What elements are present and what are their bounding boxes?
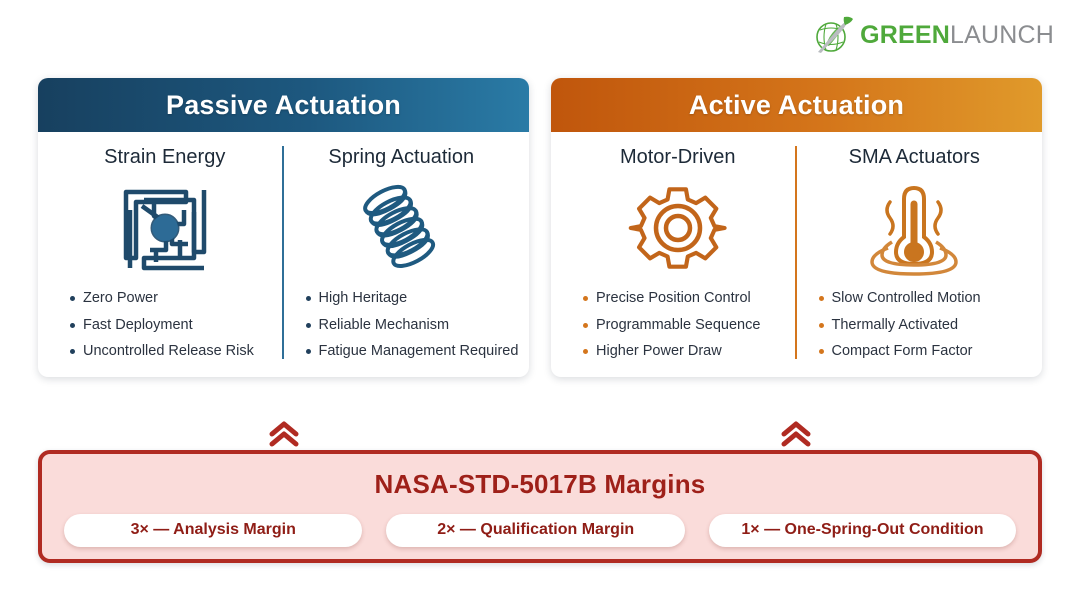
list-item: Programmable Sequence — [583, 318, 760, 333]
list-item: Higher Power Draw — [583, 344, 760, 359]
column-strain-energy: Strain Energy — [48, 146, 284, 359]
list-item: Fatigue Management Required — [306, 344, 519, 359]
list-item: Fast Deployment — [70, 318, 254, 333]
bullets-strain-energy: Zero Power Fast Deployment Uncontrolled … — [70, 291, 254, 359]
list-item: Compact Form Factor — [819, 344, 981, 359]
strain-flexure-icon — [114, 177, 216, 283]
banner-title: NASA-STD-5017B Margins — [375, 469, 706, 500]
card-active-header: Active Actuation — [551, 78, 1042, 132]
logo-wordmark: GREENLAUNCH — [860, 23, 1054, 48]
coil-spring-icon — [349, 177, 453, 283]
gear-icon — [628, 177, 728, 283]
logo-text-launch: LAUNCH — [950, 21, 1054, 49]
bullets-motor-driven: Precise Position Control Programmable Se… — [583, 291, 760, 359]
list-item: Uncontrolled Release Risk — [70, 344, 254, 359]
column-spring-actuation: Spring Actuation — [284, 146, 520, 359]
brand-logo: GREENLAUNCH — [812, 14, 1054, 56]
card-passive-header: Passive Actuation — [38, 78, 529, 132]
list-item: Reliable Mechanism — [306, 318, 519, 333]
bullets-spring-actuation: High Heritage Reliable Mechanism Fatigue… — [306, 291, 519, 359]
logo-text-green: GREEN — [860, 21, 950, 49]
column-title-motor-driven: Motor-Driven — [620, 146, 736, 169]
card-passive-actuation: Passive Actuation Strain Energy — [38, 78, 529, 377]
margin-pill-analysis: 3× — Analysis Margin — [64, 514, 362, 547]
globe-rocket-icon — [812, 14, 856, 56]
column-title-spring-actuation: Spring Actuation — [328, 146, 474, 169]
column-title-strain-energy: Strain Energy — [104, 146, 225, 169]
margin-pill-qualification: 2× — Qualification Margin — [386, 514, 684, 547]
column-sma-actuators: SMA Actuators — [797, 146, 1033, 359]
thermometer-heat-icon — [862, 177, 966, 283]
column-title-sma-actuators: SMA Actuators — [849, 146, 980, 169]
bullets-sma-actuators: Slow Controlled Motion Thermally Activat… — [819, 291, 981, 359]
list-item: Thermally Activated — [819, 318, 981, 333]
card-active-actuation: Active Actuation Motor-Driven — [551, 78, 1042, 377]
card-passive-body: Strain Energy — [38, 132, 529, 377]
list-item: Precise Position Control — [583, 291, 760, 306]
list-item: Slow Controlled Motion — [819, 291, 981, 306]
card-active-body: Motor-Driven Precise Position Control — [551, 132, 1042, 377]
column-motor-driven: Motor-Driven Precise Position Control — [561, 146, 797, 359]
cards-container: Passive Actuation Strain Energy — [38, 78, 1042, 377]
list-item: Zero Power — [70, 291, 254, 306]
margin-pill-one-spring-out: 1× — One-Spring-Out Condition — [709, 514, 1016, 547]
margins-banner: NASA-STD-5017B Margins 3× — Analysis Mar… — [38, 450, 1042, 563]
double-chevron-up-icon-right — [781, 421, 811, 447]
infographic-root: GREENLAUNCH Passive Actuation Strain Ene… — [0, 0, 1080, 603]
margin-pills: 3× — Analysis Margin 2× — Qualification … — [42, 514, 1038, 547]
list-item: High Heritage — [306, 291, 519, 306]
double-chevron-up-icon-left — [269, 421, 299, 447]
